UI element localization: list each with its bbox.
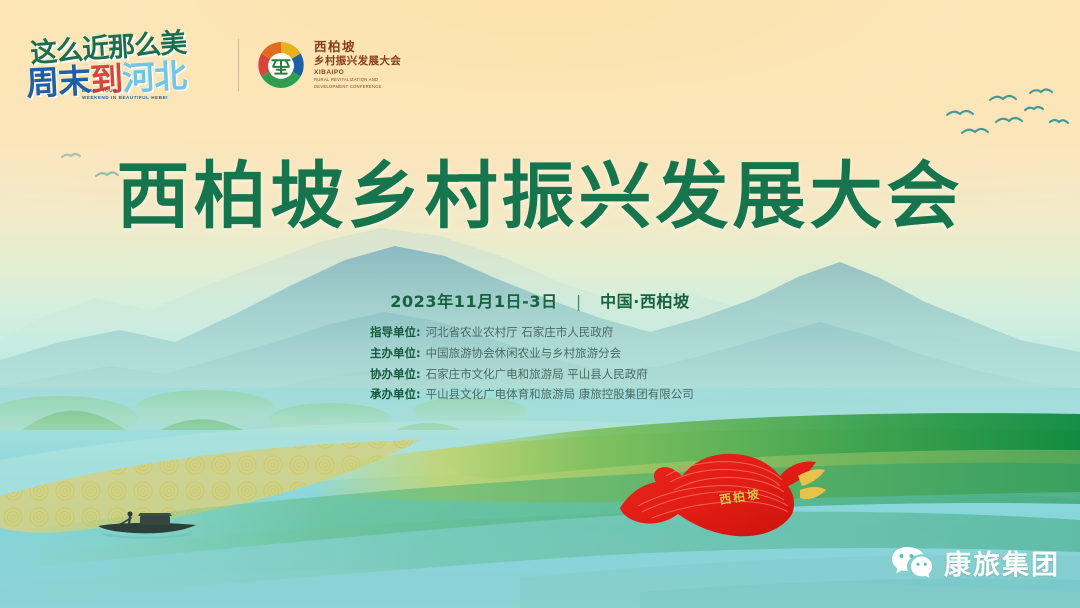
xibaipo-red-flag-emblem: 西柏坡 — [612, 446, 827, 546]
organizer-row: 主办单位: 中国旅游协会休闲农业与乡村旅游分会 — [370, 345, 710, 363]
organizer-list: 指导单位: 河北省农业农村厅 石家庄市人民政府 主办单位: 中国旅游协会休闲农业… — [0, 324, 1080, 404]
conference-name-cn: 西柏坡 — [314, 40, 401, 54]
main-title: 西柏坡乡村振兴发展大会 — [0, 160, 1080, 233]
organizer-value: 中国旅游协会休闲农业与乡村旅游分会 — [426, 345, 622, 363]
conference-emblem-icon — [257, 41, 305, 89]
conference-logo-text: 西柏坡 乡村振兴发展大会 XIBAIPO RURAL REVITALIZATIO… — [314, 40, 401, 90]
hebei-logo-english-line1: EVERY TOUR — [82, 88, 168, 95]
hebei-logo-english-line2: WEEKEND IN BEAUTIFUL HEBEI — [82, 95, 168, 102]
hebei-logo-english: EVERY TOUR WEEKEND IN BEAUTIFUL HEBEI — [82, 88, 168, 102]
conference-subtitle-en-2: DEVELOPMENT CONFERENCE — [314, 84, 401, 90]
header-divider — [238, 39, 239, 91]
wechat-icon — [891, 545, 933, 581]
organizer-row: 承办单位: 平山县文化广电体育和旅游局 康旅控股集团有限公司 — [370, 386, 710, 404]
poster-canvas: 西柏坡 这么近那么美 周末到河北 EVERY TOUR WEEKEND IN B… — [0, 0, 1080, 608]
organizer-value: 平山县文化广电体育和旅游局 康旅控股集团有限公司 — [426, 386, 694, 404]
organizer-label: 协办单位: — [370, 366, 421, 384]
watermark-text: 康旅集团 — [944, 543, 1060, 582]
conference-logo: 西柏坡 乡村振兴发展大会 XIBAIPO RURAL REVITALIZATIO… — [257, 40, 401, 90]
organizer-label: 承办单位: — [370, 386, 421, 404]
header-logos: 这么近那么美 周末到河北 EVERY TOUR WEEKEND IN BEAUT… — [24, 26, 401, 104]
organizer-label: 主办单位: — [370, 345, 421, 363]
dateline-separator: | — [576, 292, 582, 311]
conference-subtitle-cn: 乡村振兴发展大会 — [314, 55, 401, 67]
conference-name-en: XIBAIPO — [314, 69, 401, 76]
wechat-watermark: 康旅集团 — [891, 543, 1060, 582]
organizer-value: 河北省农业农村厅 石家庄市人民政府 — [426, 324, 614, 342]
hebei-tourism-logo: 这么近那么美 周末到河北 EVERY TOUR WEEKEND IN BEAUT… — [24, 26, 214, 104]
event-location: 中国·西柏坡 — [600, 292, 690, 311]
event-dateline: 2023年11月1日-3日 | 中国·西柏坡 — [0, 288, 1080, 312]
fisherman-boat-icon — [92, 508, 204, 542]
organizer-label: 指导单位: — [370, 324, 421, 342]
conference-subtitle-en-1: RURAL REVITALIZATION AND — [314, 77, 401, 83]
organizer-value: 石家庄市文化广电和旅游局 平山县人民政府 — [426, 366, 648, 384]
event-date: 2023年11月1日-3日 — [390, 292, 558, 311]
organizer-row: 指导单位: 河北省农业农村厅 石家庄市人民政府 — [370, 324, 710, 342]
organizer-row: 协办单位: 石家庄市文化广电和旅游局 平山县人民政府 — [370, 366, 710, 384]
